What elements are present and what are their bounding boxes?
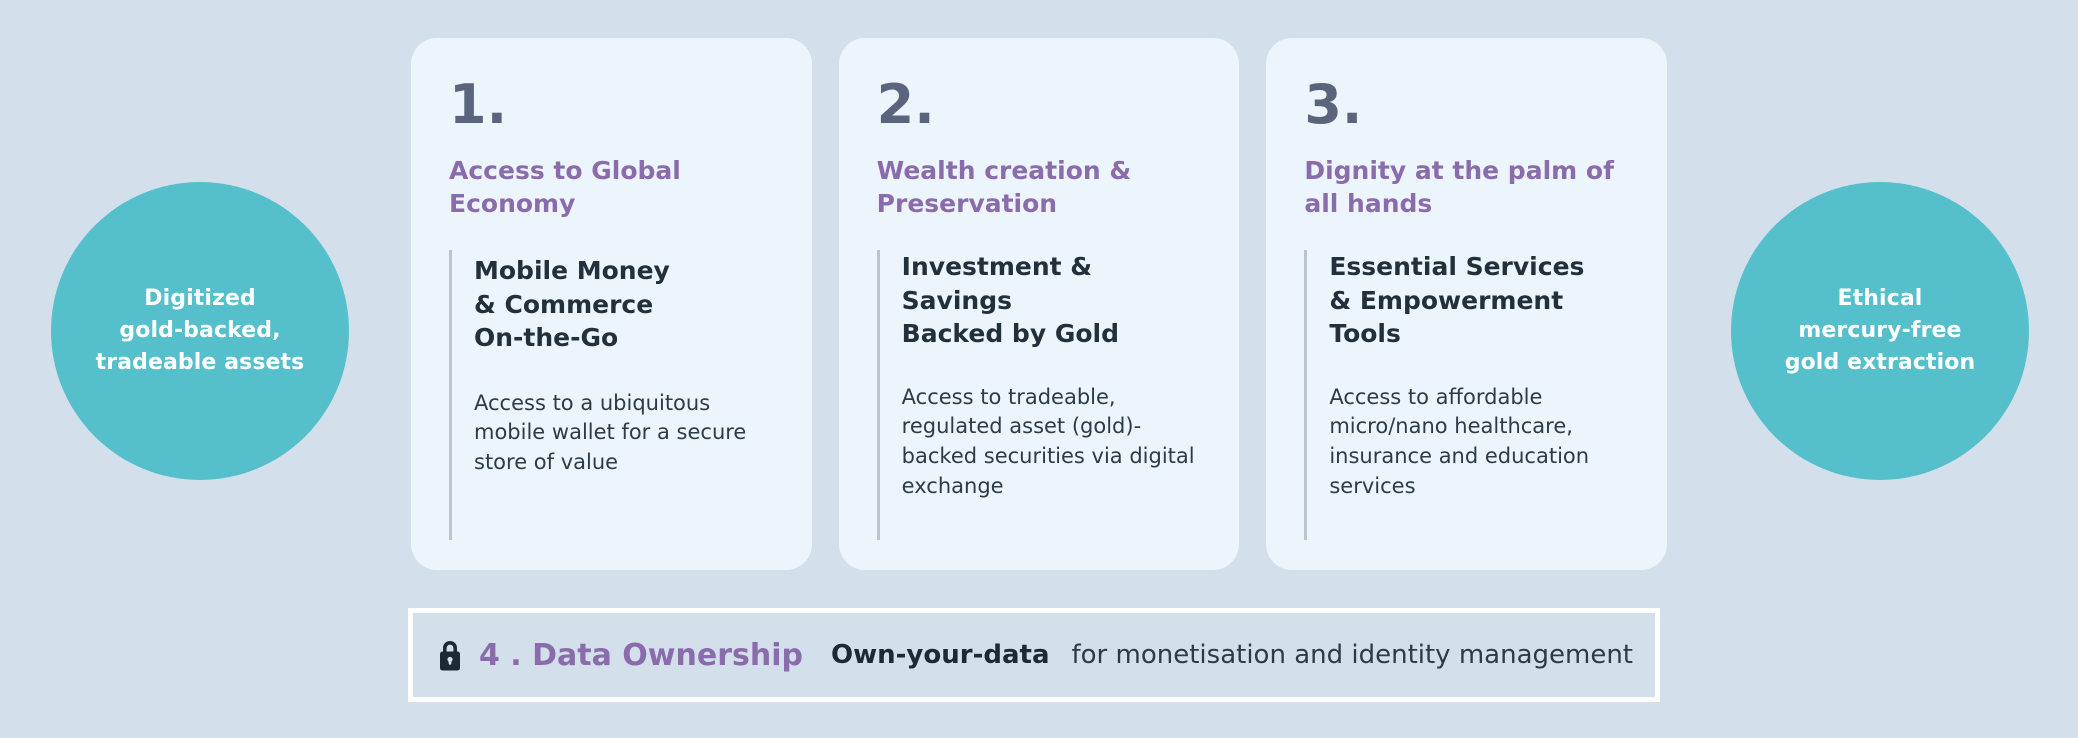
pillar-card-2: 2. Wealth creation & Preservation Invest… [839,38,1240,570]
pillar-card-3: 3. Dignity at the palm of all hands Esse… [1266,38,1667,570]
card-body-1: Mobile Money & Commerce On-the-Go Access… [449,250,774,540]
card-description-3: Access to affordable micro/nano healthca… [1329,383,1629,502]
lock-icon [435,638,465,672]
banner-lead-text: Own-your-data [831,640,1050,670]
banner-rest-text: for monetisation and identity management [1072,640,1634,670]
infographic-canvas: Digitized gold-backed, tradeable assets … [0,0,2078,738]
card-body-3: Essential Services & Empowerment Tools A… [1304,250,1629,540]
banner-number-label: 4 . Data Ownership [479,638,803,673]
card-title-1: Access to Global Economy [449,154,774,220]
pillar-cards-row: 1. Access to Global Economy Mobile Money… [411,38,1667,570]
card-title-3: Dignity at the palm of all hands [1304,154,1629,220]
card-number-2: 2. [877,78,1202,132]
card-description-1: Access to a ubiquitous mobile wallet for… [474,389,774,478]
card-description-2: Access to tradeable, regulated asset (go… [902,383,1202,502]
pillar-card-1: 1. Access to Global Economy Mobile Money… [411,38,812,570]
data-ownership-banner: 4 . Data Ownership Own-your-data for mon… [408,608,1660,702]
card-body-2: Investment & Savings Backed by Gold Acce… [877,250,1202,540]
card-subtitle-2: Investment & Savings Backed by Gold [902,250,1202,351]
card-title-2: Wealth creation & Preservation [877,154,1202,220]
left-circle-badge: Digitized gold-backed, tradeable assets [51,182,349,480]
card-number-1: 1. [449,78,774,132]
right-circle-badge: Ethical mercury-free gold extraction [1731,182,2029,480]
card-subtitle-3: Essential Services & Empowerment Tools [1329,250,1629,351]
left-circle-label: Digitized gold-backed, tradeable assets [96,283,305,379]
right-circle-label: Ethical mercury-free gold extraction [1785,283,1976,379]
card-subtitle-1: Mobile Money & Commerce On-the-Go [474,254,774,355]
card-number-3: 3. [1304,78,1629,132]
